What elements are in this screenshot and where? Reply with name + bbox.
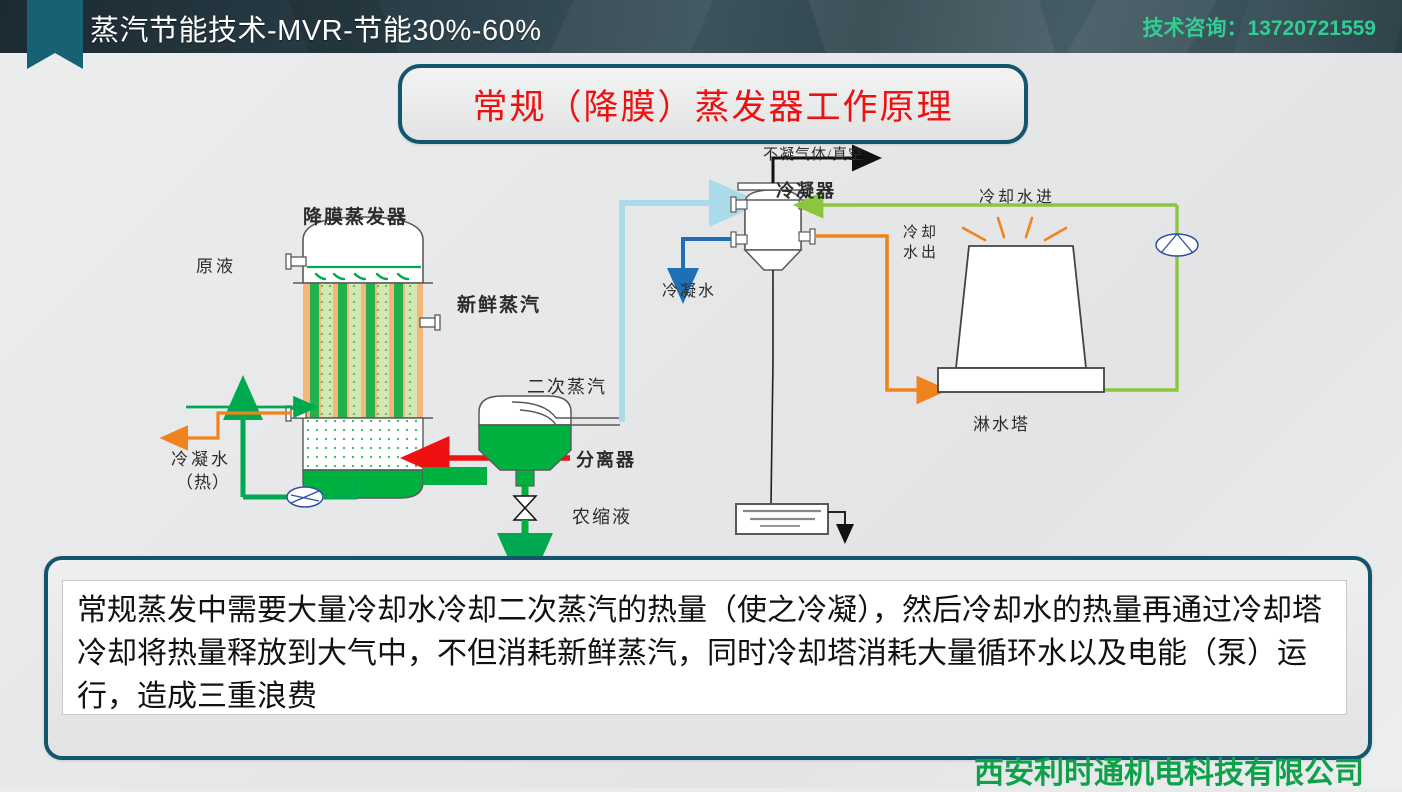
header-facet-2 (805, 0, 1064, 53)
header-title: 蒸汽节能技术-MVR-节能30%-60% (90, 7, 542, 49)
label-condenser: 冷凝器 (776, 177, 836, 203)
label-cooling-water-in: 冷却水进 (979, 183, 1055, 207)
condenser-body (745, 200, 801, 250)
cooling-tower-body (956, 246, 1086, 368)
header-facet-1 (538, 0, 723, 53)
hot-condensate-line (185, 413, 292, 438)
label-fresh-steam: 新鲜蒸汽 (457, 290, 541, 317)
summary-box: 常规蒸发中需要大量冷却水冷却二次蒸汽的热量（使之冷凝），然后冷却水的热量再通过冷… (44, 556, 1372, 760)
header-contact-info: 技术咨询：13720721559 (1143, 12, 1376, 42)
cooling-water-pump-icon (1156, 234, 1198, 256)
seal-tank-overflow (828, 512, 845, 526)
cooling-water-return-line (1086, 205, 1177, 390)
label-spray-tower: 淋水塔 (973, 410, 1030, 435)
label-concentrate: 农缩液 (572, 503, 632, 529)
separator-body (479, 425, 571, 470)
label-condensate: 冷凝水 (662, 277, 716, 301)
label-secondary-steam: 二次蒸汽 (527, 373, 607, 399)
slide-root: 蒸汽节能技术-MVR-节能30%-60% 技术咨询：13720721559 常规… (0, 0, 1402, 788)
header-accent-bar (27, 0, 83, 53)
label-cooling-water-out-line2: 水出 (903, 241, 939, 262)
process-flow-diagram: 降膜蒸发器 原液 新鲜蒸汽 冷凝水 （热） 二次蒸汽 分离器 农缩液 不凝气体/… (0, 140, 1402, 560)
secondary-steam-pipe (622, 203, 715, 422)
condenser-cone (745, 250, 801, 270)
summary-box-inner: 常规蒸发中需要大量冷却水冷却二次蒸汽的热量（使之冷凝），然后冷却水的热量再通过冷… (62, 580, 1347, 715)
slide-title-box: 常规（降膜）蒸发器工作原理 (398, 64, 1028, 144)
label-condensate-hot-line1: 冷凝水 (171, 445, 231, 470)
label-raw-liquid: 原液 (196, 252, 236, 277)
cooling-tower-basin (938, 368, 1104, 392)
header-accent-chevron-icon (27, 53, 83, 69)
label-condensate-hot-line2: （热） (176, 468, 230, 493)
label-cooling-water-out-line1: 冷却 (903, 221, 939, 242)
concentrate-valve-icon (514, 496, 536, 520)
label-noncondensable-gas: 不凝气体/真空 (763, 143, 864, 164)
company-name: 西安利时通机电科技有限公司 (974, 748, 1364, 792)
barometric-leg (771, 270, 773, 504)
label-falling-film-evaporator: 降膜蒸发器 (303, 202, 408, 229)
cooling-tower-heat-rays-icon (963, 218, 1066, 240)
label-separator: 分离器 (576, 446, 636, 472)
slide-title-text: 常规（降膜）蒸发器工作原理 (472, 79, 953, 130)
condenser-condensate-arrow (683, 239, 731, 272)
summary-paragraph: 常规蒸发中需要大量冷却水冷却二次蒸汽的热量（使之冷凝），然后冷却水的热量再通过冷… (77, 589, 1332, 718)
